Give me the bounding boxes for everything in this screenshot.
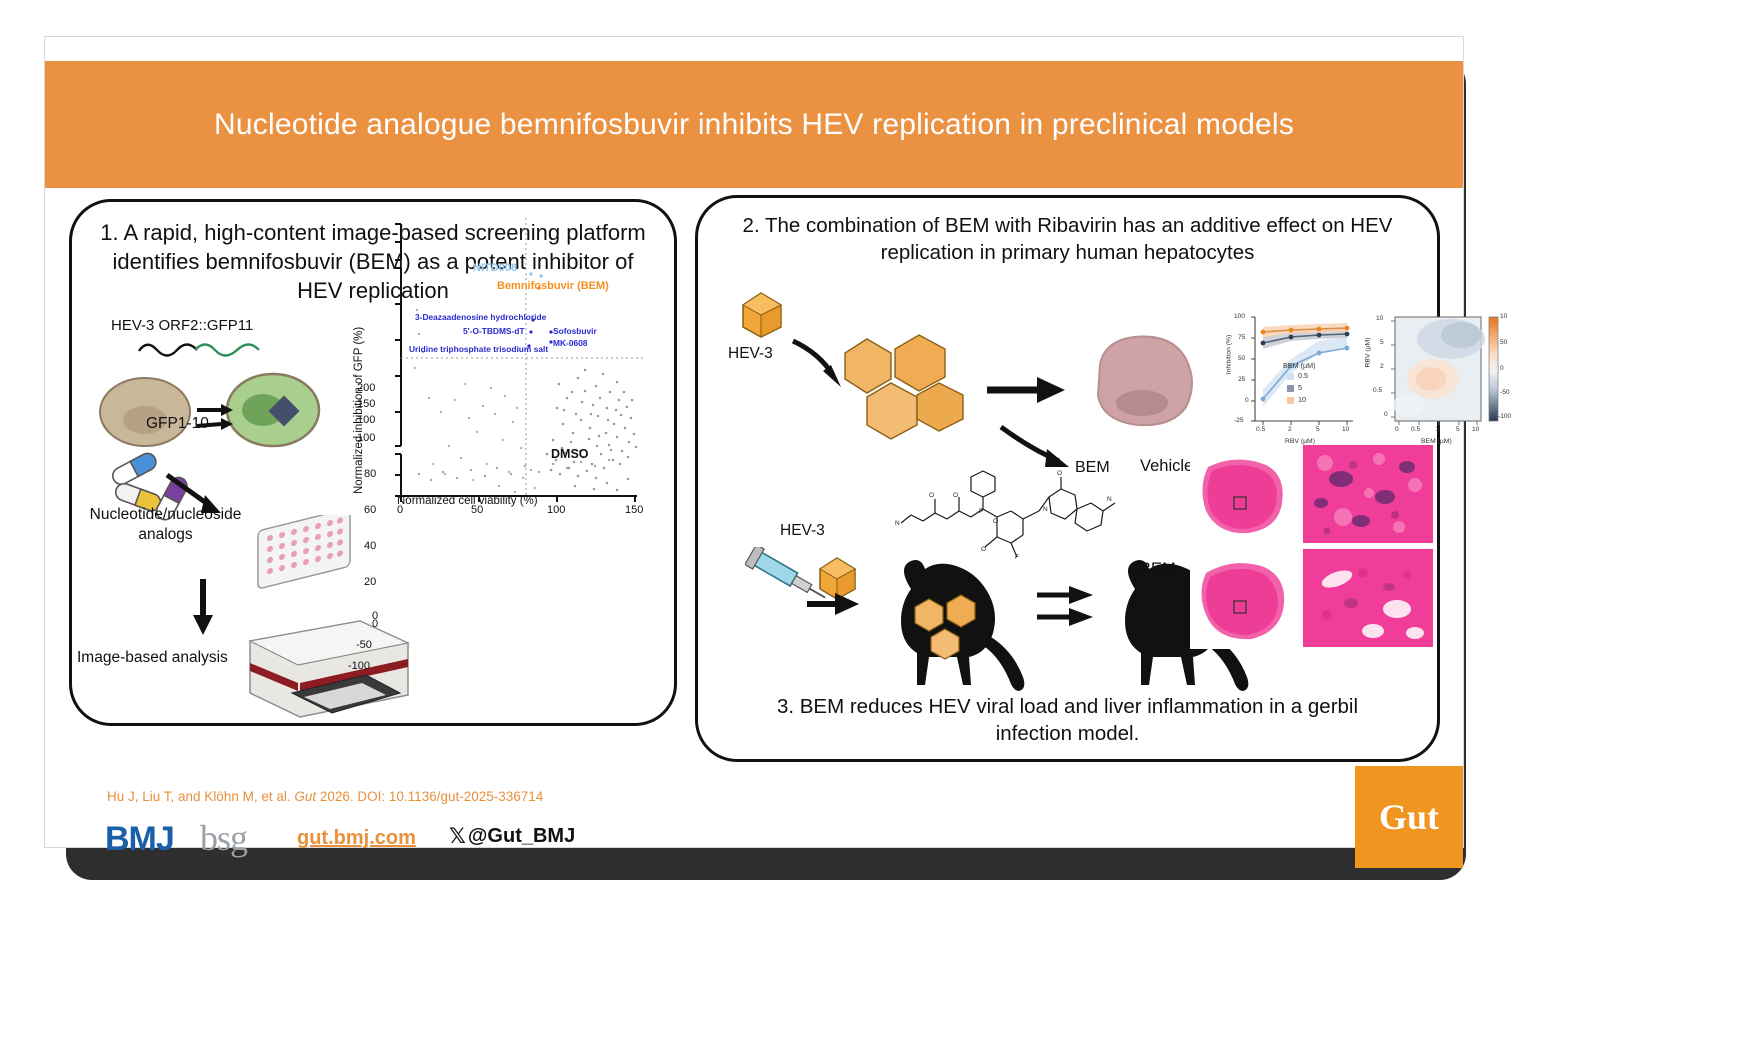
heatmap-xtick-10: 10 — [1472, 426, 1479, 433]
label-hev3-orf2-gfp11: HEV-3 ORF2::GFP11 — [111, 317, 253, 334]
scatter-ytick-40: 40 — [364, 540, 376, 552]
panel-right-footer-heading: 3. BEM reduces HEV viral load and liver … — [698, 693, 1437, 747]
rbv-legend-swatch-0 — [1287, 373, 1294, 380]
rbv-ytick-50: 50 — [1238, 355, 1245, 362]
scatter-xtick-100: 100 — [547, 504, 565, 516]
rbv-ytick-minus25: -25 — [1234, 417, 1244, 424]
histology-bem-zoom — [1303, 549, 1433, 647]
scatter-annotation-mk0608: MK-0608 — [553, 338, 587, 348]
scatter-annotation-uridine: Uridine triphosphate trisodium salt — [409, 344, 548, 354]
heatmap-ytick-10: 10 — [1376, 315, 1383, 322]
heatmap-svg — [1365, 309, 1515, 459]
scatter-ytick-60: 60 — [364, 504, 376, 516]
heatmap-colorbar-tick-0: 0 — [1500, 365, 1504, 372]
citation-rest: 2026. DOI: 10.1136/gut-2025-336714 — [316, 789, 543, 804]
rbv-ytick-25: 25 — [1238, 376, 1245, 383]
svg-text:N: N — [1107, 496, 1112, 503]
svg-text:O: O — [1057, 470, 1062, 477]
label-hev3-top: HEV-3 — [728, 345, 773, 363]
microplate-icon — [250, 515, 360, 595]
rbv-xtick-10: 10 — [1342, 426, 1349, 433]
heatmap-xtick-0: 0 — [1395, 426, 1399, 433]
scatter-annotation-tbdms-dt: 5'-O-TBDMS-dT — [463, 326, 525, 336]
virion-cluster-icon — [835, 331, 975, 441]
scatter-ytick-0-bot: 0 — [372, 618, 378, 630]
svg-text:P: P — [979, 508, 983, 515]
svg-text:N: N — [895, 520, 900, 527]
heatmap-ytick-2: 2 — [1380, 363, 1384, 370]
rbv-ytick-75: 75 — [1238, 334, 1245, 341]
arrow-right-hepatocyte-icon — [985, 373, 1071, 407]
gut-journal-badge: Gut — [1355, 766, 1463, 868]
histology-vehicle-zoom — [1303, 445, 1433, 543]
scatter-annotation-sofosbuvir: Sofosbuvir — [553, 326, 597, 336]
arrow-down-icon — [185, 575, 235, 645]
header-bar: Nucleotide analogue bemnifosbuvir inhibi… — [45, 61, 1463, 188]
heatmap-ytick-0-5: 0.5 — [1373, 387, 1382, 394]
rbv-x-axis-title: RBV (µM) — [1285, 438, 1315, 445]
x-twitter-icon: 𝕏 — [449, 824, 466, 848]
rbv-legend-label-0: 0.5 — [1298, 371, 1308, 380]
chart-bem-rbv-heatmap: 10 5 2 0.5 0 0 0.5 2 5 10 BEM (µM) RBV (… — [1365, 309, 1515, 459]
rbv-legend-swatch-1 — [1287, 385, 1294, 392]
scatter-ytick-20: 20 — [364, 576, 376, 588]
bmj-logo: BMJ — [105, 820, 174, 859]
rbv-legend-label-1: 5 — [1298, 383, 1302, 392]
gerbil-infected-icon — [863, 545, 1038, 695]
svg-text:O: O — [929, 492, 934, 499]
heatmap-xtick-0-5: 0.5 — [1411, 426, 1420, 433]
heatmap-y-axis-title: RBV (µM) — [1364, 338, 1371, 368]
label-gfp1-10: GFP1-10 — [146, 415, 209, 433]
citation-journal: Gut — [294, 789, 316, 804]
scatter-annotation-bemnifosbuvir: Bemnifosbuvir (BEM) — [497, 280, 609, 292]
citation: Hu J, Liu T, and Klöhn M, et al. Gut 202… — [107, 789, 543, 804]
heatmap-colorbar-tick-50: 50 — [1500, 339, 1507, 346]
chart-screening-scatter: 200 150 100 100 80 60 40 20 0 0 -50 -100… — [345, 202, 645, 512]
svg-text:O: O — [993, 518, 998, 525]
bsg-logo: bsg — [200, 817, 247, 859]
heatmap-xtick-2: 2 — [1436, 426, 1440, 433]
chart-rbv-inhibition-curves: 100 75 50 25 0 -25 0.5 2 5 10 RBV (µM) I… — [1223, 309, 1358, 459]
gut-badge-label: Gut — [1379, 796, 1439, 838]
rbv-xtick-5: 5 — [1316, 426, 1320, 433]
rbv-legend-swatch-2 — [1287, 397, 1294, 404]
page-title: Nucleotide analogue bemnifosbuvir inhibi… — [188, 108, 1320, 142]
rbv-legend-title: BEM (µM) — [1283, 361, 1316, 370]
scatter-annotation-dmso: DMSO — [551, 447, 589, 461]
scatter-annotation-nitd008: NITD008 — [473, 262, 517, 274]
citation-authors: Hu J, Liu T, and Klöhn M, et al. — [107, 789, 294, 804]
rbv-xtick-0-5: 0.5 — [1256, 426, 1265, 433]
scatter-x-axis-title: Normalized cell viability (%) — [397, 495, 538, 507]
rbv-ytick-100: 100 — [1234, 313, 1245, 320]
label-image-based-analysis: Image-based analysis — [77, 649, 228, 667]
label-hev3-bottom: HEV-3 — [780, 522, 825, 540]
histology-label-bem: BEM — [1140, 560, 1176, 579]
svg-text:O: O — [953, 492, 958, 499]
rna-squiggle-icon — [137, 337, 287, 359]
scatter-ytick-minus100: -100 — [348, 660, 370, 672]
histology-bem-overview — [1190, 549, 1300, 649]
scatter-xtick-150: 150 — [625, 504, 643, 516]
scatter-ytick-80: 80 — [364, 468, 376, 480]
rbv-y-axis-title: Inhibition (%) — [1225, 335, 1232, 375]
rbv-line-chart-svg — [1223, 309, 1358, 459]
x-handle-label: @Gut_BMJ — [468, 825, 575, 848]
rbv-legend-label-2: 10 — [1298, 395, 1306, 404]
label-bem-molecule: BEM — [1075, 459, 1110, 477]
scatter-ytick-minus50: -50 — [356, 639, 372, 651]
heatmap-ytick-0: 0 — [1384, 411, 1388, 418]
heatmap-ytick-5: 5 — [1380, 339, 1384, 346]
hepatocyte-cell-icon — [1080, 325, 1210, 435]
heatmap-xtick-5: 5 — [1456, 426, 1460, 433]
gut-bmj-site-link[interactable]: gut.bmj.com — [297, 827, 416, 850]
scatter-plot-svg — [345, 202, 645, 512]
panel-right-heading: 2. The combination of BEM with Ribavirin… — [698, 212, 1437, 266]
rbv-ytick-0: 0 — [1245, 397, 1249, 404]
heatmap-colorbar-tick-minus100: -100 — [1498, 413, 1511, 420]
scatter-y-axis-title: Normalized inhibition of GFP (%) — [353, 327, 365, 494]
rbv-xtick-2: 2 — [1288, 426, 1292, 433]
histology-label-vehicle: Vehicle — [1140, 457, 1193, 476]
imaging-instrument-icon — [240, 607, 415, 727]
x-handle-group[interactable]: 𝕏 @Gut_BMJ — [449, 824, 575, 848]
arrow-right-gerbil-icon — [805, 589, 865, 619]
heatmap-colorbar-tick-minus50: -50 — [1500, 389, 1510, 396]
histology-vehicle-overview — [1190, 445, 1300, 545]
scatter-annotation-deazaadenosine: 3-Deazaadenosine hydrochloride — [415, 312, 546, 322]
heatmap-x-axis-title: BEM (µM) — [1421, 438, 1452, 445]
label-nucleotide-analogs: Nucleotide/nucleoside analogs — [73, 505, 258, 545]
graphical-abstract-slide: Nucleotide analogue bemnifosbuvir inhibi… — [44, 36, 1464, 848]
svg-text:N: N — [1043, 506, 1048, 513]
hev-virion-icon — [737, 289, 787, 339]
